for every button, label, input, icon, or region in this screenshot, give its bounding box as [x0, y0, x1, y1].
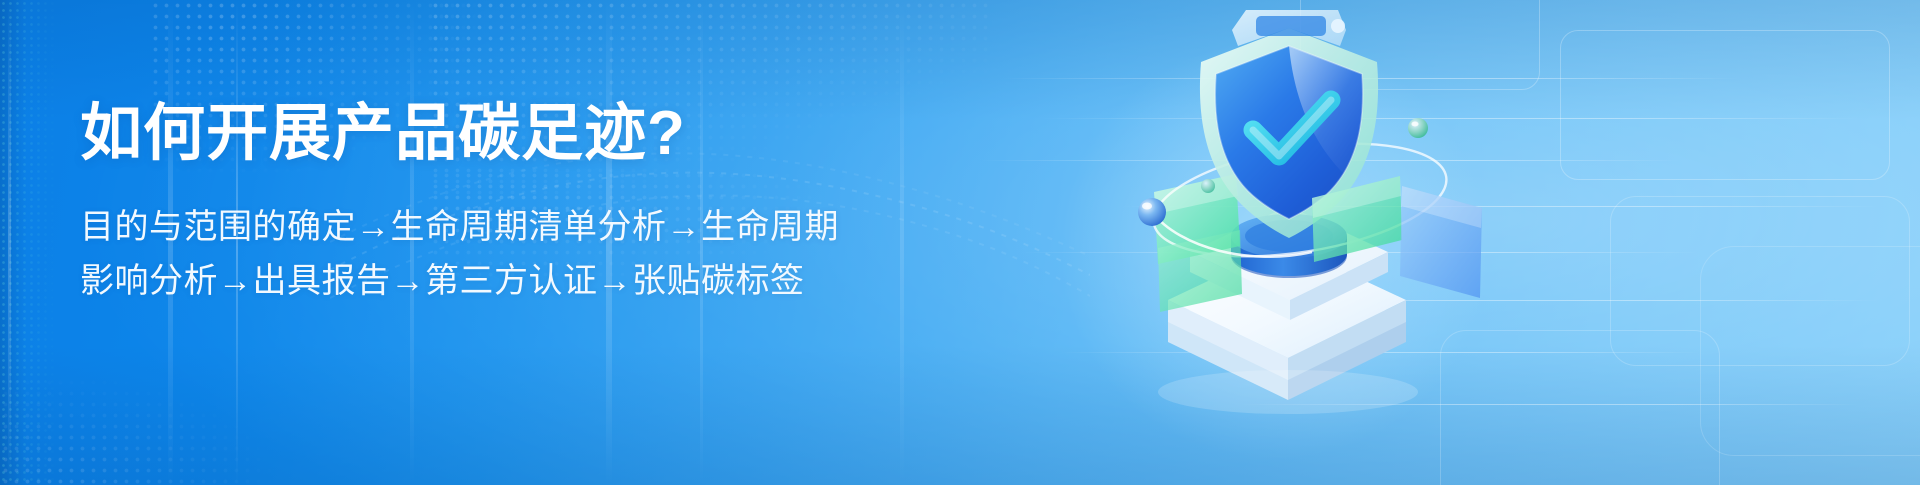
sphere-highlight-2 [1412, 122, 1419, 127]
banner-subtitle: 目的与范围的确定→生命周期清单分析→生命周期 影响分析→出具报告→第三方认证→张… [80, 200, 980, 308]
glass-sphere-green [1408, 118, 1428, 138]
glass-sphere-blue [1138, 198, 1166, 226]
subtitle-line-1: 目的与范围的确定→生命周期清单分析→生命周期 [80, 200, 980, 254]
promo-banner: 如何开展产品碳足迹? 目的与范围的确定→生命周期清单分析→生命周期 影响分析→出… [0, 0, 1920, 485]
left-dot-column [0, 0, 58, 485]
banner-headline: 如何开展产品碳足迹? [80, 96, 980, 172]
ground-glow [1158, 370, 1418, 414]
glass-sphere-small [1201, 179, 1215, 193]
banner-copy: 如何开展产品碳足迹? 目的与范围的确定→生命周期清单分析→生命周期 影响分析→出… [80, 96, 980, 308]
subtitle-line-2: 影响分析→出具报告→第三方认证→张贴碳标签 [80, 254, 980, 308]
shield-illustration [1050, 0, 1520, 485]
background-bottom-shade [0, 345, 1920, 485]
sphere-highlight [1142, 203, 1152, 210]
